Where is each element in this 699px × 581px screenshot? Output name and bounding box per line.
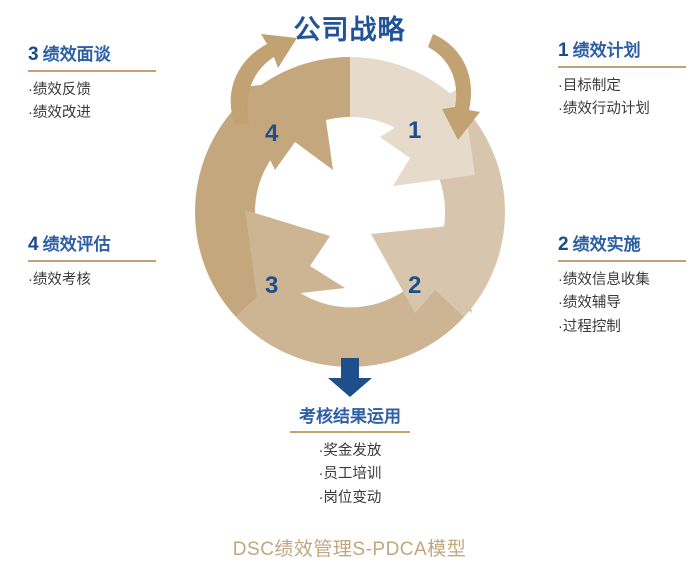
info-block-evaluate-list: ·绩效考核 [28, 269, 178, 292]
list-item: ·过程控制 [558, 316, 699, 339]
list-item: ·员工培训 [230, 463, 470, 486]
info-block-interview-number: 3 [28, 44, 39, 65]
cycle-number-1: 1 [408, 117, 421, 145]
info-block-execute-title: 绩效实施 [573, 235, 641, 254]
list-item: ·绩效改进 [28, 102, 178, 125]
pdca-cycle-graphic [175, 30, 525, 385]
outcome-block[interactable]: 考核结果运用 ·奖金发放 ·员工培训 ·岗位变动 [230, 358, 470, 510]
list-item: ·绩效辅导 [558, 292, 699, 315]
info-block-plan-title: 绩效计划 [573, 41, 641, 60]
info-block-plan-header: 1绩效计划 [558, 40, 699, 63]
outcome-title: 考核结果运用 [230, 402, 470, 427]
list-item: ·绩效反馈 [28, 79, 178, 102]
info-block-execute-list: ·绩效信息收集 ·绩效辅导 ·过程控制 [558, 269, 699, 339]
info-block-execute[interactable]: 2绩效实施 ·绩效信息收集 ·绩效辅导 ·过程控制 [558, 234, 699, 339]
info-block-plan[interactable]: 1绩效计划 ·目标制定 ·绩效行动计划 [558, 40, 699, 122]
outcome-rule [290, 431, 410, 433]
diagram-canvas: 公司战略 1 2 3 4 3绩效面谈 [0, 0, 699, 581]
list-item: ·绩效信息收集 [558, 269, 699, 292]
cycle-tag-2[interactable] [371, 225, 472, 313]
down-arrow-icon [230, 358, 470, 400]
info-block-evaluate-header: 4绩效评估 [28, 234, 178, 257]
info-block-evaluate-title: 绩效评估 [43, 235, 111, 254]
info-block-interview[interactable]: 3绩效面谈 ·绩效反馈 ·绩效改进 [28, 44, 178, 126]
list-item: ·岗位变动 [230, 487, 470, 510]
info-block-plan-list: ·目标制定 ·绩效行动计划 [558, 75, 699, 122]
info-block-interview-header: 3绩效面谈 [28, 44, 178, 67]
info-block-evaluate[interactable]: 4绩效评估 ·绩效考核 [28, 234, 178, 292]
cycle-number-2: 2 [408, 272, 421, 300]
cycle-number-4: 4 [265, 120, 278, 148]
cycle-tag-3[interactable] [245, 210, 345, 298]
info-block-interview-rule [28, 70, 156, 72]
info-block-execute-header: 2绩效实施 [558, 234, 699, 257]
info-block-evaluate-rule [28, 260, 156, 262]
info-block-interview-list: ·绩效反馈 ·绩效改进 [28, 79, 178, 126]
info-block-plan-number: 1 [558, 40, 569, 61]
outcome-list: ·奖金发放 ·员工培训 ·岗位变动 [230, 440, 470, 510]
list-item: ·绩效考核 [28, 269, 178, 292]
list-item: ·绩效行动计划 [558, 98, 699, 121]
info-block-execute-rule [558, 260, 686, 262]
info-block-evaluate-number: 4 [28, 234, 39, 255]
info-block-interview-title: 绩效面谈 [43, 45, 111, 64]
info-block-plan-rule [558, 66, 686, 68]
cycle-number-3: 3 [265, 272, 278, 300]
diagram-caption: DSC绩效管理S-PDCA模型 [0, 534, 699, 561]
list-item: ·目标制定 [558, 75, 699, 98]
info-block-execute-number: 2 [558, 234, 569, 255]
list-item: ·奖金发放 [230, 440, 470, 463]
